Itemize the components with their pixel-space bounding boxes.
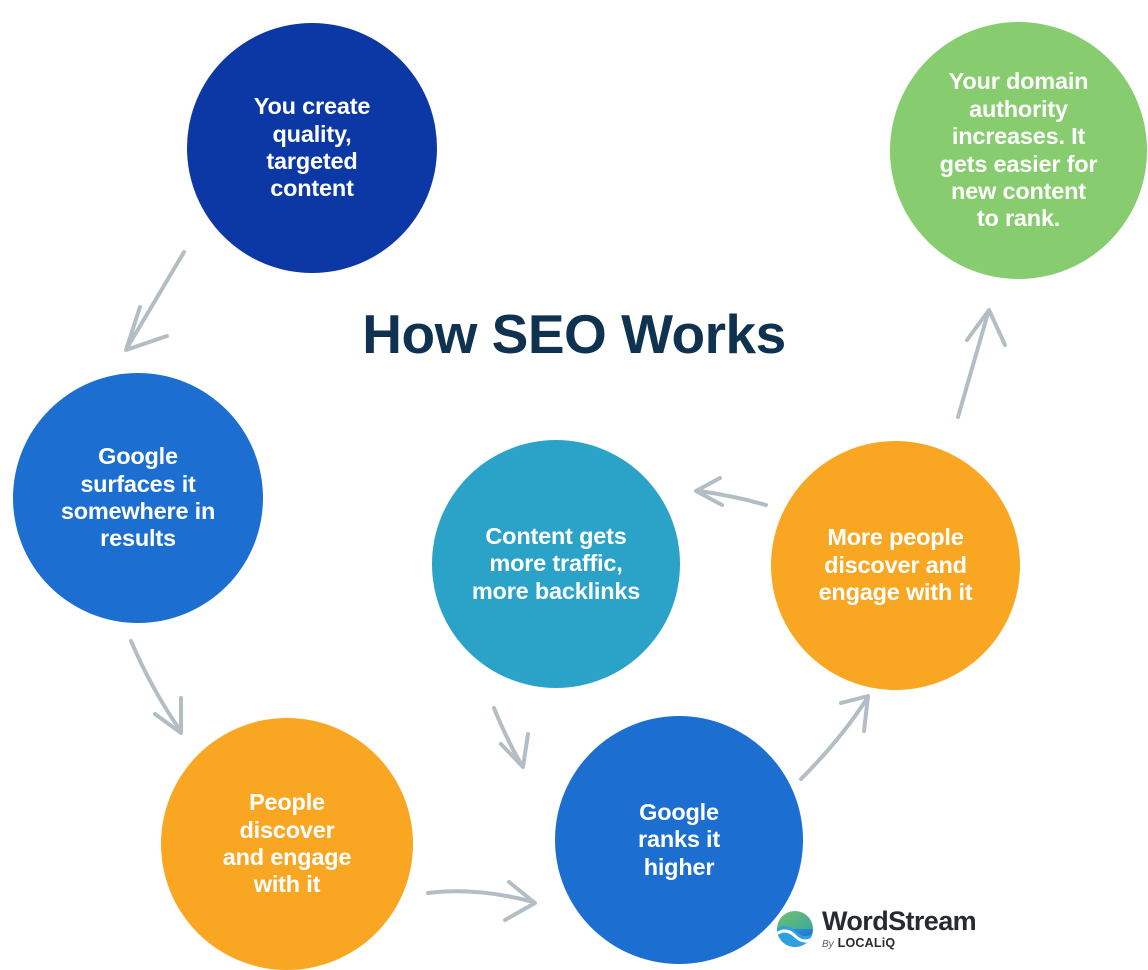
node-domain-authority[interactable]: Your domain authority increases. It gets… xyxy=(890,22,1147,279)
arrow-morepeople-to-content xyxy=(696,478,766,505)
brand-logo[interactable]: WordStream By LOCALiQ xyxy=(776,908,976,950)
node-google-surfaces[interactable]: Google surfaces it somewhere in results xyxy=(13,373,263,623)
brand-parent-name: LOCALiQ xyxy=(838,937,896,950)
node-content-traffic[interactable]: Content gets more traffic, more backlink… xyxy=(432,440,680,688)
node-people-discover[interactable]: People discover and engage with it xyxy=(161,718,413,970)
arrow-people-to-ranks xyxy=(428,882,535,920)
arrow-ranks-to-morepeople xyxy=(801,696,868,779)
arrow-surfaces-to-people xyxy=(131,641,181,733)
node-more-people[interactable]: More people discover and engage with it xyxy=(771,441,1020,690)
node-people-discover-label: People discover and engage with it xyxy=(217,789,358,899)
node-create-content-label: You create quality, targeted content xyxy=(248,93,376,203)
brand-text-block: WordStream By LOCALiQ xyxy=(822,908,976,950)
node-create-content[interactable]: You create quality, targeted content xyxy=(187,23,437,273)
node-google-surfaces-label: Google surfaces it somewhere in results xyxy=(55,443,221,553)
node-content-traffic-label: Content gets more traffic, more backlink… xyxy=(466,523,646,605)
wave-globe-icon xyxy=(776,910,814,948)
infographic-canvas: .arrow-stroke { stroke: #B2BEC4; stroke-… xyxy=(0,0,1148,970)
arrow-content-to-ranks xyxy=(494,708,528,767)
node-google-ranks[interactable]: Google ranks it higher xyxy=(555,716,803,964)
node-more-people-label: More people discover and engage with it xyxy=(813,524,979,606)
brand-by-text: By xyxy=(822,940,834,950)
brand-wordmark: WordStream xyxy=(822,908,976,935)
node-google-ranks-label: Google ranks it higher xyxy=(632,799,726,881)
node-domain-authority-label: Your domain authority increases. It gets… xyxy=(934,68,1104,233)
brand-byline: By LOCALiQ xyxy=(822,937,895,950)
page-title: How SEO Works xyxy=(0,302,1148,366)
